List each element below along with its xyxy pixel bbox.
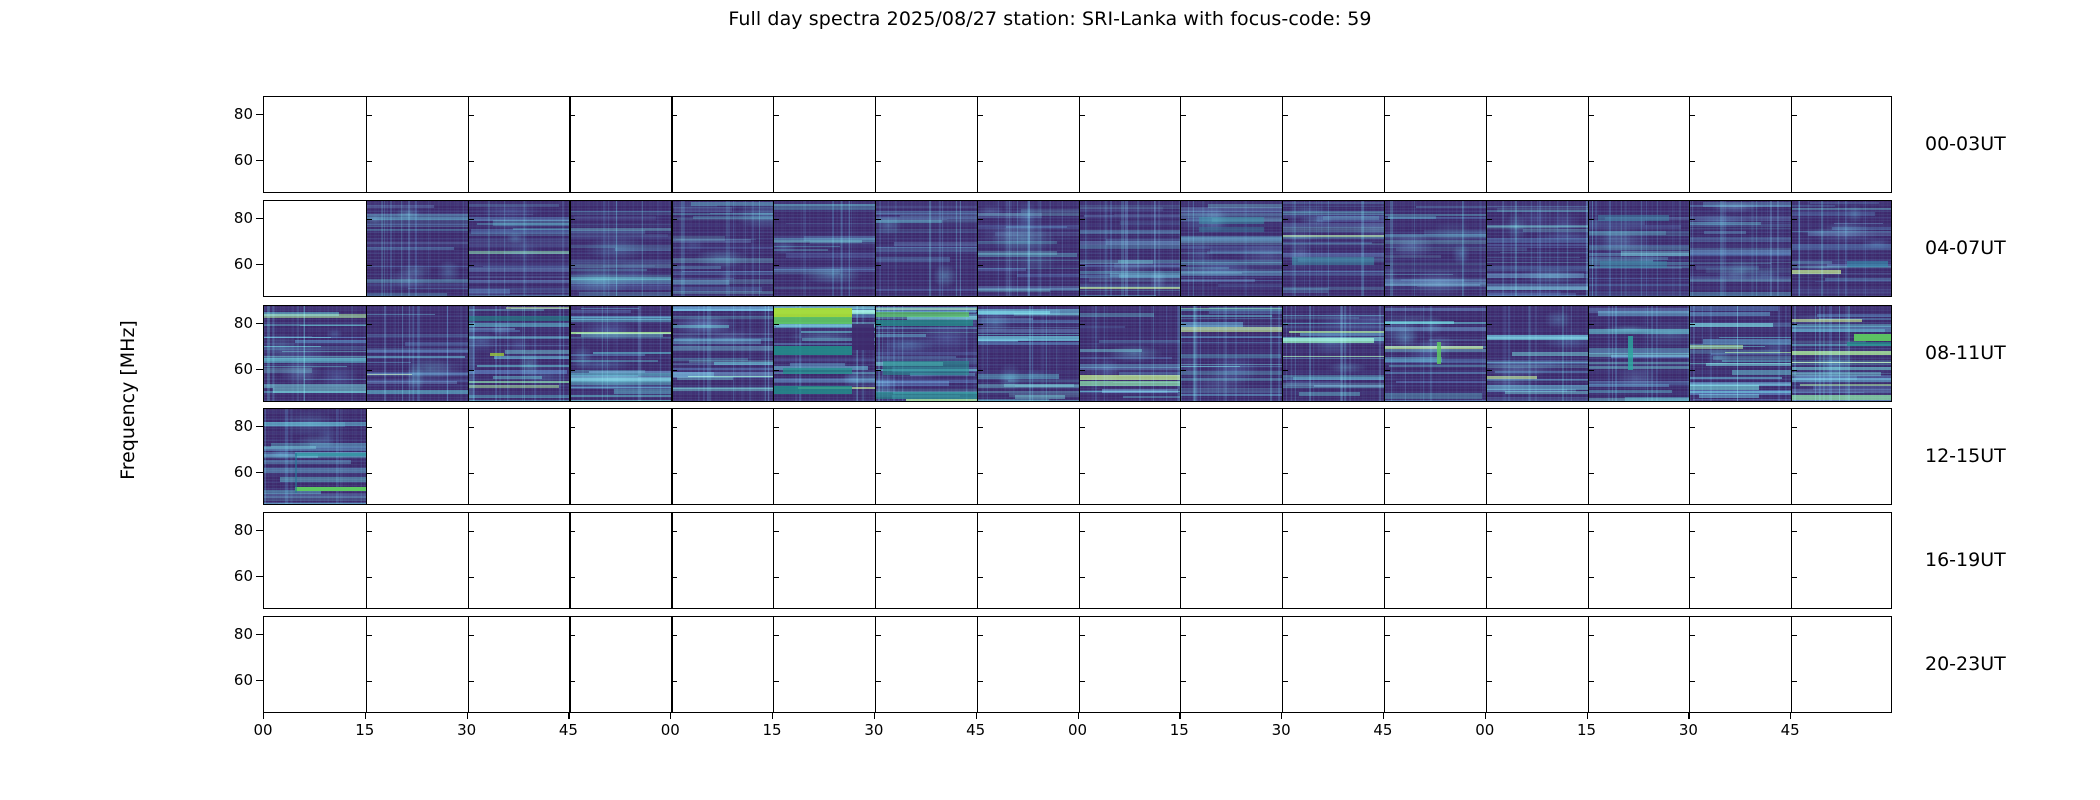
spectrogram-panel-r2-c2[interactable] [468, 306, 570, 401]
x-tick-mark [263, 713, 264, 719]
x-tick-mark [670, 713, 671, 719]
x-tick-label: 00 [238, 721, 288, 739]
panel-separator [366, 306, 367, 401]
spectrogram-panel-r0-c13[interactable] [1588, 97, 1690, 192]
panel-separator [1486, 409, 1488, 504]
spectrogram-panel-r1-c6[interactable] [875, 201, 977, 296]
x-tick-mark [1790, 713, 1791, 719]
y-axis-label: Frequency [MHz] [117, 320, 139, 480]
spectrogram-panel-r3-c1[interactable] [366, 409, 468, 504]
spectrogram-panel-r4-c3[interactable] [569, 513, 671, 608]
y-tick-label-80: 80 [209, 521, 253, 539]
spectrogram-panel-r3-c9[interactable] [1180, 409, 1282, 504]
x-tick-mark [976, 713, 977, 719]
panel-separator [977, 201, 978, 296]
row-label-04-07ut: 04-07UT [1925, 237, 2006, 259]
panel-separator [773, 97, 774, 192]
x-tick-label: 15 [1562, 721, 1612, 739]
spectrogram-panel-r1-c11[interactable] [1384, 201, 1486, 296]
panel-separator [366, 97, 367, 192]
x-tick-mark [1078, 713, 1079, 719]
panel-separator [977, 97, 978, 192]
panel-separator [1689, 201, 1690, 296]
panel-separator [569, 409, 570, 504]
x-tick-mark [568, 713, 569, 719]
spectrogram-panel-r4-c13[interactable] [1588, 513, 1690, 608]
y-tick-label-60: 60 [209, 360, 253, 378]
x-tick-mark [874, 713, 875, 719]
panel-separator [468, 306, 469, 401]
spectrogram-row-16-19ut[interactable] [263, 512, 1892, 609]
spectrogram-panel-r5-c10[interactable] [1282, 617, 1384, 712]
panel-separator [1282, 306, 1283, 401]
panel-separator [468, 513, 469, 608]
spectrogram-panel-r3-c7[interactable] [977, 409, 1079, 504]
panel-separator [875, 617, 876, 712]
x-tick-mark [1383, 713, 1384, 719]
spectrogram-panel-r0-c3[interactable] [569, 97, 671, 192]
panel-separator [1588, 201, 1589, 296]
panel-separator [875, 409, 876, 504]
spectrogram-panel-r1-c15[interactable] [1791, 201, 1892, 296]
spectrogram-panel-r2-c5[interactable] [773, 306, 875, 401]
x-tick-mark [467, 713, 468, 719]
panel-separator [977, 306, 978, 401]
panel-separator [1079, 306, 1081, 401]
panel-separator [569, 201, 570, 296]
spectrogram-panel-r4-c9[interactable] [1180, 513, 1282, 608]
panel-separator [671, 617, 673, 712]
panel-separator [1384, 306, 1385, 401]
spectrogram-panel-r2-c7[interactable] [977, 306, 1079, 401]
panel-separator [1282, 97, 1283, 192]
spectrogram-panel-r0-c2[interactable] [468, 97, 570, 192]
spectrogram-row-08-11ut[interactable] [263, 305, 1892, 402]
spectrogram-panel-r5-c2[interactable] [468, 617, 570, 712]
panel-separator [671, 97, 673, 192]
spectrogram-panel-r3-c0[interactable] [264, 409, 366, 504]
spectrogram-panel-r4-c2[interactable] [468, 513, 570, 608]
row-label-16-19ut: 16-19UT [1925, 549, 2006, 571]
spectrogram-panel-r0-c7[interactable] [977, 97, 1079, 192]
x-tick-label: 15 [340, 721, 390, 739]
panel-separator [671, 513, 673, 608]
figure-canvas: Full day spectra 2025/08/27 station: SRI… [0, 0, 2100, 800]
panel-separator [1588, 513, 1589, 608]
spectrogram-panel-r0-c9[interactable] [1180, 97, 1282, 192]
panel-separator [1079, 201, 1081, 296]
x-tick-mark [1688, 713, 1689, 719]
y-tick-label-60: 60 [209, 671, 253, 689]
x-tick-label: 30 [442, 721, 492, 739]
spectrogram-panel-r5-c0[interactable] [264, 617, 366, 712]
spectrogram-panel-r1-c12[interactable] [1486, 201, 1588, 296]
spectrogram-panel-r5-c11[interactable] [1384, 617, 1486, 712]
panel-separator [569, 513, 570, 608]
spectrogram-panel-r4-c6[interactable] [875, 513, 977, 608]
panel-separator [1791, 513, 1792, 608]
panel-separator [366, 617, 367, 712]
spectrogram-panel-r0-c0[interactable] [264, 97, 366, 192]
panel-separator [1079, 617, 1081, 712]
x-tick-mark [772, 713, 773, 719]
spectrogram-panel-r2-c11[interactable] [1384, 306, 1486, 401]
spectrogram-row-04-07ut[interactable] [263, 200, 1892, 297]
x-tick-label: 15 [1154, 721, 1204, 739]
y-tick-label-80: 80 [209, 209, 253, 227]
spectrogram-panel-r2-c8[interactable] [1079, 306, 1181, 401]
panel-separator [671, 306, 673, 401]
spectrogram-panel-r5-c8[interactable] [1079, 617, 1181, 712]
y-tick-mark [256, 530, 263, 531]
x-tick-label: 45 [543, 721, 593, 739]
y-tick-mark [256, 369, 263, 370]
spectrogram-row-12-15ut[interactable] [263, 408, 1892, 505]
y-tick-label-60: 60 [209, 567, 253, 585]
y-tick-mark [256, 323, 263, 324]
panel-separator [468, 201, 469, 296]
spectrogram-panel-r0-c15[interactable] [1791, 97, 1892, 192]
y-tick-label-80: 80 [209, 105, 253, 123]
y-tick-mark [256, 472, 263, 473]
y-tick-label-80: 80 [209, 625, 253, 643]
spectrogram-panel-r2-c9[interactable] [1180, 306, 1282, 401]
spectrogram-panel-r2-c0[interactable] [264, 306, 366, 401]
spectrogram-panel-r4-c0[interactable] [264, 513, 366, 608]
panel-separator [1384, 201, 1385, 296]
panel-separator [1689, 97, 1690, 192]
panel-separator [1588, 306, 1589, 401]
spectrogram-panel-r5-c13[interactable] [1588, 617, 1690, 712]
spectrogram-panel-r1-c14[interactable] [1689, 201, 1791, 296]
panel-separator [366, 201, 367, 296]
spectrogram-panel-r2-c1[interactable] [366, 306, 468, 401]
spectrogram-panel-r0-c11[interactable] [1384, 97, 1486, 192]
spectrogram-panel-r1-c7[interactable] [977, 201, 1079, 296]
panel-separator [671, 201, 673, 296]
panel-separator [773, 513, 774, 608]
spectrogram-panel-r1-c13[interactable] [1588, 201, 1690, 296]
panel-separator [1180, 617, 1181, 712]
y-tick-mark [256, 264, 263, 265]
panel-separator [875, 201, 876, 296]
x-tick-label: 00 [645, 721, 695, 739]
panel-separator [468, 97, 469, 192]
panel-separator [1180, 306, 1181, 401]
spectrogram-row-00-03ut[interactable] [263, 96, 1892, 193]
y-tick-mark [256, 634, 263, 635]
y-tick-label-60: 60 [209, 255, 253, 273]
spectrogram-panel-r4-c10[interactable] [1282, 513, 1384, 608]
panel-separator [1180, 513, 1181, 608]
x-tick-mark [1281, 713, 1282, 719]
spectrogram-panel-r2-c12[interactable] [1486, 306, 1588, 401]
panel-separator [773, 201, 774, 296]
spectrogram-panel-r4-c4[interactable] [671, 513, 773, 608]
panel-separator [1588, 409, 1589, 504]
panel-separator [1079, 409, 1081, 504]
panel-separator [1486, 306, 1488, 401]
spectrogram-panel-r2-c14[interactable] [1689, 306, 1791, 401]
panel-separator [1282, 201, 1283, 296]
panel-separator [366, 409, 367, 504]
spectrogram-panel-r1-c0[interactable] [264, 201, 366, 296]
panel-separator [773, 617, 774, 712]
panel-separator [671, 409, 673, 504]
spectrogram-panel-r5-c14[interactable] [1689, 617, 1791, 712]
spectrogram-panel-r2-c3[interactable] [569, 306, 671, 401]
spectrogram-panel-r4-c5[interactable] [773, 513, 875, 608]
spectrogram-panel-r1-c8[interactable] [1079, 201, 1181, 296]
panel-separator [1588, 617, 1589, 712]
x-tick-mark [1179, 713, 1180, 719]
spectrogram-panel-r3-c12[interactable] [1486, 409, 1588, 504]
panel-separator [569, 97, 570, 192]
spectrogram-panel-r2-c4[interactable] [671, 306, 773, 401]
spectrogram-panel-r3-c2[interactable] [468, 409, 570, 504]
panel-separator [773, 409, 774, 504]
y-tick-label-80: 80 [209, 314, 253, 332]
spectrogram-panel-r0-c14[interactable] [1689, 97, 1791, 192]
x-tick-label: 30 [849, 721, 899, 739]
row-label-20-23ut: 20-23UT [1925, 653, 2006, 675]
spectrogram-panel-r3-c11[interactable] [1384, 409, 1486, 504]
y-tick-mark [256, 576, 263, 577]
y-tick-label-60: 60 [209, 151, 253, 169]
spectrogram-panel-r0-c12[interactable] [1486, 97, 1588, 192]
panel-separator [773, 306, 774, 401]
spectrogram-panel-r5-c7[interactable] [977, 617, 1079, 712]
spectrogram-panel-r3-c8[interactable] [1079, 409, 1181, 504]
panel-separator [875, 306, 876, 401]
spectrogram-panel-r3-c3[interactable] [569, 409, 671, 504]
x-tick-label: 45 [1765, 721, 1815, 739]
y-tick-mark [256, 218, 263, 219]
y-tick-label-60: 60 [209, 463, 253, 481]
spectrogram-panel-r4-c7[interactable] [977, 513, 1079, 608]
x-tick-mark [1587, 713, 1588, 719]
spectrogram-panel-r4-c1[interactable] [366, 513, 468, 608]
spectrogram-panel-r1-c4[interactable] [671, 201, 773, 296]
spectrogram-panel-r4-c11[interactable] [1384, 513, 1486, 608]
x-tick-mark [365, 713, 366, 719]
panel-separator [1486, 201, 1488, 296]
spectrogram-panel-r4-c14[interactable] [1689, 513, 1791, 608]
spectrogram-panel-r4-c12[interactable] [1486, 513, 1588, 608]
spectrogram-panel-r1-c5[interactable] [773, 201, 875, 296]
x-tick-label: 15 [747, 721, 797, 739]
spectrogram-panel-r3-c5[interactable] [773, 409, 875, 504]
panel-separator [875, 513, 876, 608]
y-tick-label-80: 80 [209, 417, 253, 435]
panel-separator [569, 617, 570, 712]
spectrogram-row-20-23ut[interactable] [263, 616, 1892, 713]
panel-separator [1486, 617, 1488, 712]
x-tick-label: 30 [1663, 721, 1713, 739]
spectrogram-panel-r5-c3[interactable] [569, 617, 671, 712]
spectrogram-panel-r2-c15[interactable] [1791, 306, 1892, 401]
panel-separator [366, 513, 367, 608]
spectrogram-panel-r3-c10[interactable] [1282, 409, 1384, 504]
panel-separator [977, 513, 978, 608]
spectrogram-panel-r0-c6[interactable] [875, 97, 977, 192]
panel-separator [1791, 617, 1792, 712]
spectrogram-panel-r3-c6[interactable] [875, 409, 977, 504]
spectrogram-panel-r0-c8[interactable] [1079, 97, 1181, 192]
panel-separator [1791, 201, 1792, 296]
panel-separator [875, 97, 876, 192]
spectrogram-panel-r5-c6[interactable] [875, 617, 977, 712]
spectrogram-panel-r3-c13[interactable] [1588, 409, 1690, 504]
x-tick-label: 00 [1053, 721, 1103, 739]
panel-separator [1079, 513, 1081, 608]
spectrogram-panel-r4-c15[interactable] [1791, 513, 1892, 608]
spectrogram-panel-r3-c4[interactable] [671, 409, 773, 504]
spectrogram-panel-r5-c4[interactable] [671, 617, 773, 712]
spectrogram-panel-r0-c5[interactable] [773, 97, 875, 192]
spectrogram-panel-r5-c1[interactable] [366, 617, 468, 712]
panel-separator [1791, 409, 1792, 504]
panel-separator [1791, 97, 1792, 192]
spectrogram-panel-r2-c13[interactable] [1588, 306, 1690, 401]
spectrogram-panel-r3-c15[interactable] [1791, 409, 1892, 504]
y-tick-mark [256, 426, 263, 427]
panel-separator [1384, 617, 1385, 712]
spectrogram-panel-r5-c15[interactable] [1791, 617, 1892, 712]
spectrogram-panel-r5-c9[interactable] [1180, 617, 1282, 712]
spectrogram-panel-r2-c6[interactable] [875, 306, 977, 401]
x-tick-label: 45 [951, 721, 1001, 739]
panel-separator [1180, 97, 1181, 192]
y-tick-mark [256, 680, 263, 681]
x-tick-label: 45 [1358, 721, 1408, 739]
row-label-00-03ut: 00-03UT [1925, 133, 2006, 155]
panel-separator [977, 617, 978, 712]
spectrogram-panel-r5-c12[interactable] [1486, 617, 1588, 712]
panel-separator [1689, 409, 1690, 504]
panel-separator [1486, 513, 1488, 608]
spectrogram-panel-r3-c14[interactable] [1689, 409, 1791, 504]
spectrogram-panel-r1-c1[interactable] [366, 201, 468, 296]
panel-separator [468, 409, 469, 504]
panel-separator [569, 306, 570, 401]
spectrogram-panel-r2-c10[interactable] [1282, 306, 1384, 401]
panel-separator [1689, 513, 1690, 608]
panel-separator [1689, 617, 1690, 712]
spectrogram-panel-r1-c3[interactable] [569, 201, 671, 296]
panel-separator [1384, 513, 1385, 608]
spectrogram-panel-r1-c9[interactable] [1180, 201, 1282, 296]
panel-separator [1384, 409, 1385, 504]
panel-separator [1791, 306, 1792, 401]
row-label-12-15ut: 12-15UT [1925, 445, 2006, 467]
y-tick-mark [256, 114, 263, 115]
spectrogram-panel-r1-c10[interactable] [1282, 201, 1384, 296]
panel-separator [977, 409, 978, 504]
panel-separator [1282, 409, 1283, 504]
spectrogram-panel-r1-c2[interactable] [468, 201, 570, 296]
spectrogram-panel-r4-c8[interactable] [1079, 513, 1181, 608]
panel-separator [1588, 97, 1589, 192]
figure-title: Full day spectra 2025/08/27 station: SRI… [0, 8, 2100, 30]
panel-separator [1180, 409, 1181, 504]
panel-separator [1689, 306, 1690, 401]
panel-separator [1282, 513, 1283, 608]
panel-separator [1282, 617, 1283, 712]
x-tick-label: 30 [1256, 721, 1306, 739]
panel-separator [1486, 97, 1488, 192]
spectrogram-panel-r0-c10[interactable] [1282, 97, 1384, 192]
panel-separator [1180, 201, 1181, 296]
x-tick-label: 00 [1460, 721, 1510, 739]
spectrogram-panel-r0-c4[interactable] [671, 97, 773, 192]
panel-separator [468, 617, 469, 712]
x-tick-mark [1485, 713, 1486, 719]
y-tick-mark [256, 160, 263, 161]
panel-separator [1384, 97, 1385, 192]
row-label-08-11ut: 08-11UT [1925, 342, 2006, 364]
panel-separator [1079, 97, 1081, 192]
spectrogram-panel-r0-c1[interactable] [366, 97, 468, 192]
spectrogram-panel-r5-c5[interactable] [773, 617, 875, 712]
